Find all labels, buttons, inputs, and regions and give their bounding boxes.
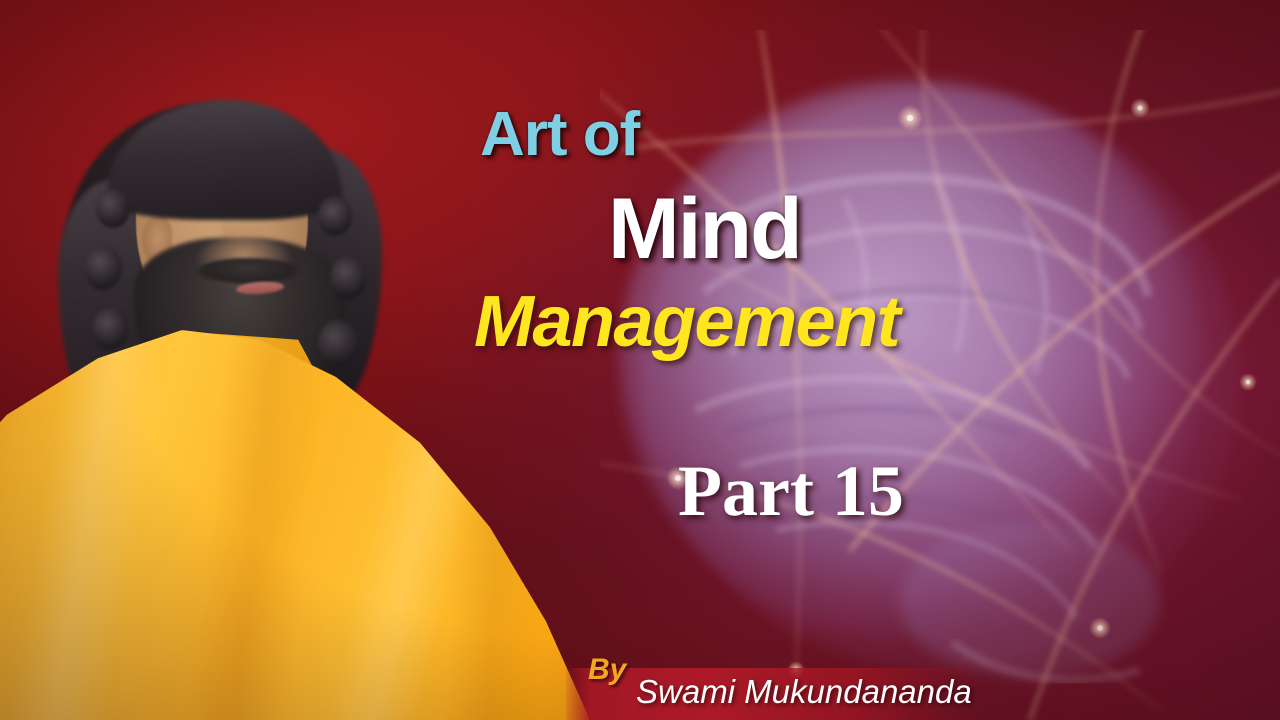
title-line-art-of: Art of [480,104,639,166]
title-line-management: Management [474,286,899,358]
mustache [198,258,298,284]
brain-icon [600,30,1280,720]
hair-curl [318,196,352,236]
episode-label: Part 15 [678,455,904,527]
hair-curl [92,308,128,350]
speaker-name: Swami Mukundananda [636,675,972,708]
video-thumbnail: Art of Mind Management Part 15 By Swami … [0,0,1280,720]
hair-curl [84,246,122,290]
hair-curl [96,188,130,228]
title-line-mind: Mind [608,186,801,272]
hair-curl [330,256,366,300]
hair-curl [318,320,358,368]
byline-prefix: By [588,655,626,685]
robe-folds [0,330,600,720]
neural-network-icon [600,30,1280,720]
